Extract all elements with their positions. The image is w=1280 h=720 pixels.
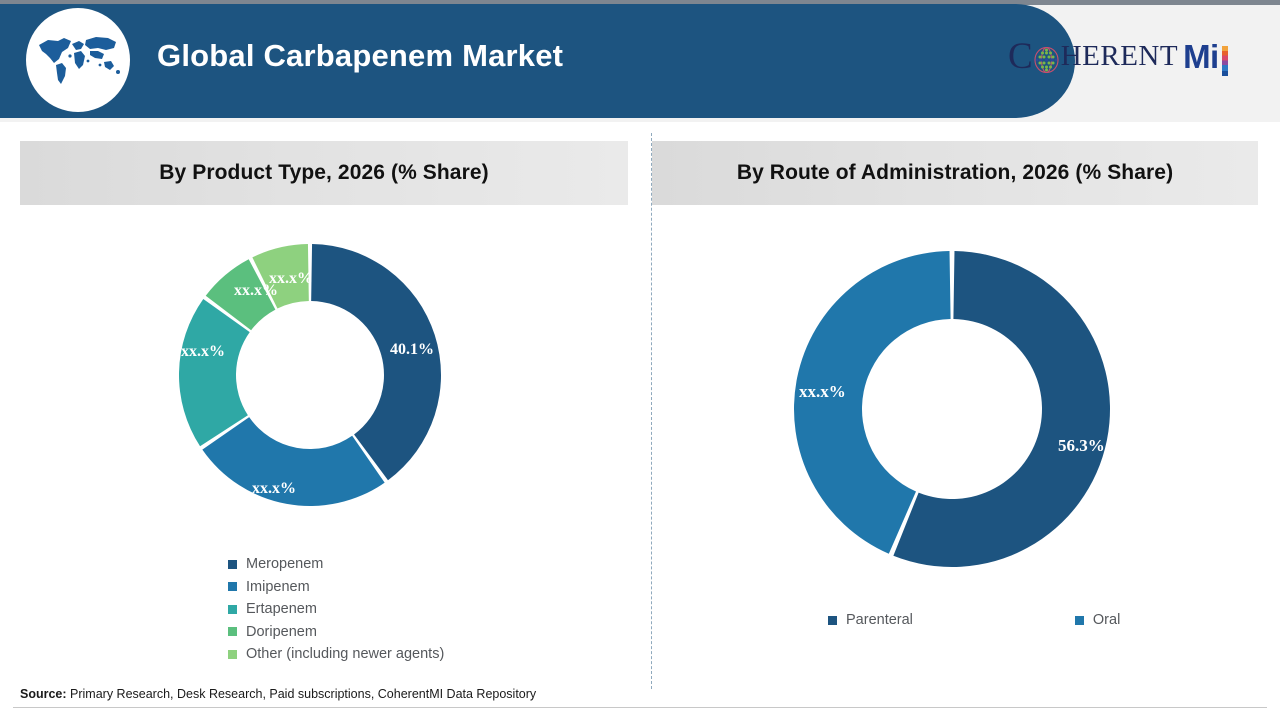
legend-item[interactable]: Meropenem bbox=[228, 553, 444, 576]
legend-item-label: Imipenem bbox=[246, 579, 310, 595]
panel-divider bbox=[651, 133, 652, 689]
coherentmi-logo: C HER bbox=[1008, 38, 1228, 75]
legend-item[interactable]: Ertapenem bbox=[228, 598, 444, 621]
legend-product-type: MeropenemImipenemErtapenemDoripenemOther… bbox=[228, 553, 444, 666]
legend-item-label: Other (including newer agents) bbox=[246, 646, 444, 662]
legend-swatch-icon bbox=[228, 560, 237, 569]
logo-lead-letter: C bbox=[1008, 38, 1033, 75]
logo-color-bar bbox=[1222, 46, 1228, 76]
legend-route: ParenteralOral bbox=[828, 612, 1280, 628]
legend-item-label: Meropenem bbox=[246, 556, 323, 572]
legend-item[interactable]: Imipenem bbox=[228, 576, 444, 599]
legend-swatch-icon bbox=[1075, 616, 1084, 625]
source-text: Primary Research, Desk Research, Paid su… bbox=[67, 687, 537, 701]
source-note: Source: Primary Research, Desk Research,… bbox=[20, 687, 536, 701]
donut-slice bbox=[311, 244, 441, 480]
logo-suffix: Mi bbox=[1183, 40, 1219, 73]
legend-item-label: Oral bbox=[1093, 612, 1120, 628]
legend-swatch-icon bbox=[228, 605, 237, 614]
legend-swatch-icon bbox=[228, 627, 237, 636]
donut-slice bbox=[179, 299, 250, 446]
donut-slice bbox=[202, 417, 384, 506]
legend-item-label: Ertapenem bbox=[246, 601, 317, 617]
infographic-page: Global Carbapenem Market C bbox=[0, 0, 1280, 720]
legend-item[interactable]: Other (including newer agents) bbox=[228, 643, 444, 666]
world-map-globe-icon bbox=[26, 8, 130, 112]
logo-wordmark: HERENT bbox=[1061, 42, 1178, 71]
legend-item-label: Parenteral bbox=[846, 612, 913, 628]
legend-swatch-icon bbox=[228, 582, 237, 591]
bottom-rule bbox=[13, 707, 1267, 708]
donut-chart-product-type: 40.1%xx.x%xx.x%xx.x%xx.x% bbox=[178, 243, 442, 507]
panel-title-route-text: By Route of Administration, 2026 (% Shar… bbox=[737, 161, 1173, 185]
legend-item[interactable]: Parenteral bbox=[828, 612, 913, 628]
coherentmi-globe-icon bbox=[1034, 47, 1059, 73]
panel-title-product-type: By Product Type, 2026 (% Share) bbox=[20, 141, 628, 205]
legend-swatch-icon bbox=[228, 650, 237, 659]
legend-item[interactable]: Doripenem bbox=[228, 621, 444, 644]
page-header: Global Carbapenem Market C bbox=[0, 0, 1280, 122]
legend-item[interactable]: Oral bbox=[1075, 612, 1120, 628]
panel-title-route: By Route of Administration, 2026 (% Shar… bbox=[652, 141, 1258, 205]
legend-swatch-icon bbox=[828, 616, 837, 625]
panel-title-product-type-text: By Product Type, 2026 (% Share) bbox=[159, 161, 488, 185]
donut-chart-route: 56.3%xx.x% bbox=[793, 250, 1111, 568]
page-title: Global Carbapenem Market bbox=[157, 38, 563, 74]
legend-item-label: Doripenem bbox=[246, 624, 317, 640]
source-label: Source: bbox=[20, 687, 67, 701]
